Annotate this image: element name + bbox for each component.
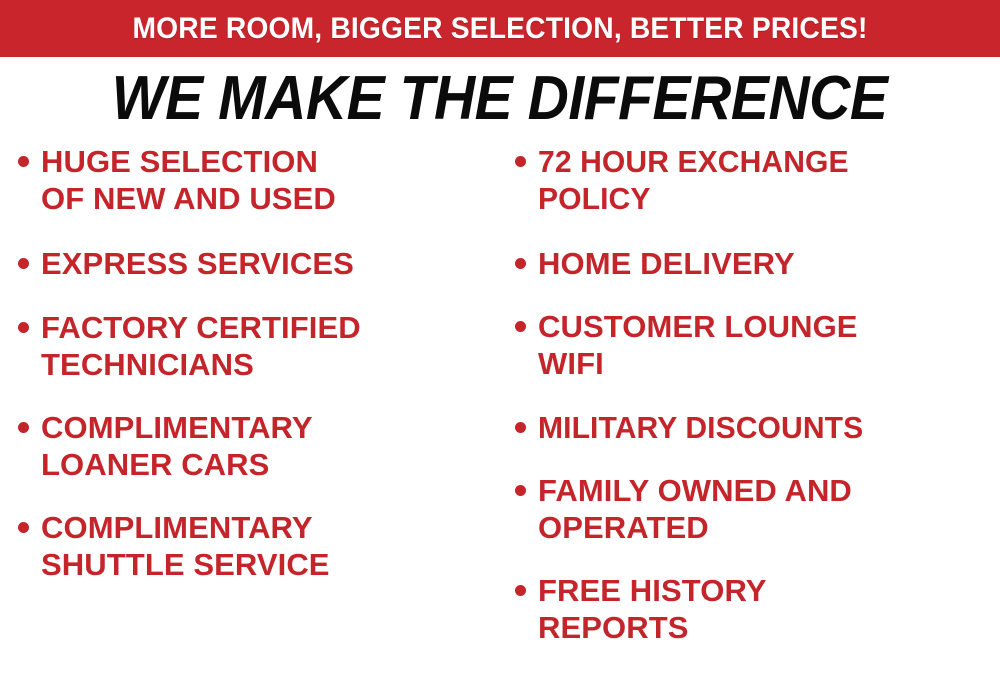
benefit-label: FACTORY CERTIFIED TECHNICIANS [41, 309, 508, 383]
top-banner: MORE ROOM, BIGGER SELECTION, BETTER PRIC… [0, 0, 1000, 57]
benefit-label: COMPLIMENTARY LOANER CARS [41, 409, 508, 483]
benefit-label: CUSTOMER LOUNGE WIFI [538, 308, 1000, 382]
list-item: COMPLIMENTARY LOANER CARS [18, 409, 508, 483]
benefit-label: EXPRESS SERVICES [41, 245, 508, 282]
bullet-dot-icon [515, 485, 526, 496]
list-item: HOME DELIVERY [515, 245, 1000, 282]
banner-headline-text: MORE ROOM, BIGGER SELECTION, BETTER PRIC… [132, 12, 867, 46]
list-item: EXPRESS SERVICES [18, 245, 508, 282]
benefit-label: HUGE SELECTION OF NEW AND USED [41, 143, 508, 217]
benefit-label: COMPLIMENTARY SHUTTLE SERVICE [41, 509, 508, 583]
benefits-left-column: HUGE SELECTION OF NEW AND USED EXPRESS S… [18, 135, 508, 583]
list-item: HUGE SELECTION OF NEW AND USED [18, 143, 508, 217]
list-item: MILITARY DISCOUNTS [515, 409, 1000, 446]
benefit-label: MILITARY DISCOUNTS [538, 409, 986, 446]
benefits-right-column: 72 HOUR EXCHANGE POLICY HOME DELIVERY CU… [515, 135, 1000, 646]
benefit-label: HOME DELIVERY [538, 245, 1000, 282]
bullet-dot-icon [515, 258, 526, 269]
promo-banner-page: { "colors": { "banner_bg": "#c9252c", "b… [0, 0, 1000, 694]
list-item: COMPLIMENTARY SHUTTLE SERVICE [18, 509, 508, 583]
bullet-dot-icon [515, 585, 526, 596]
benefit-label: 72 HOUR EXCHANGE POLICY [538, 143, 986, 217]
bullet-dot-icon [515, 321, 526, 332]
bullet-dot-icon [18, 522, 29, 533]
bullet-dot-icon [18, 258, 29, 269]
benefits-columns: HUGE SELECTION OF NEW AND USED EXPRESS S… [0, 135, 1000, 680]
headline-container: WE MAKE THE DIFFERENCE [0, 63, 1000, 135]
list-item: 72 HOUR EXCHANGE POLICY [515, 143, 1000, 217]
list-item: FACTORY CERTIFIED TECHNICIANS [18, 309, 508, 383]
list-item: FREE HISTORY REPORTS [515, 572, 1000, 646]
list-item: FAMILY OWNED AND OPERATED [515, 472, 1000, 546]
benefit-label: FAMILY OWNED AND OPERATED [538, 472, 1000, 546]
page-title: WE MAKE THE DIFFERENCE [112, 68, 888, 130]
bullet-dot-icon [18, 322, 29, 333]
bullet-dot-icon [18, 156, 29, 167]
bullet-dot-icon [515, 156, 526, 167]
list-item: CUSTOMER LOUNGE WIFI [515, 308, 1000, 382]
bullet-dot-icon [515, 422, 526, 433]
bullet-dot-icon [18, 422, 29, 433]
benefit-label: FREE HISTORY REPORTS [538, 572, 1000, 646]
